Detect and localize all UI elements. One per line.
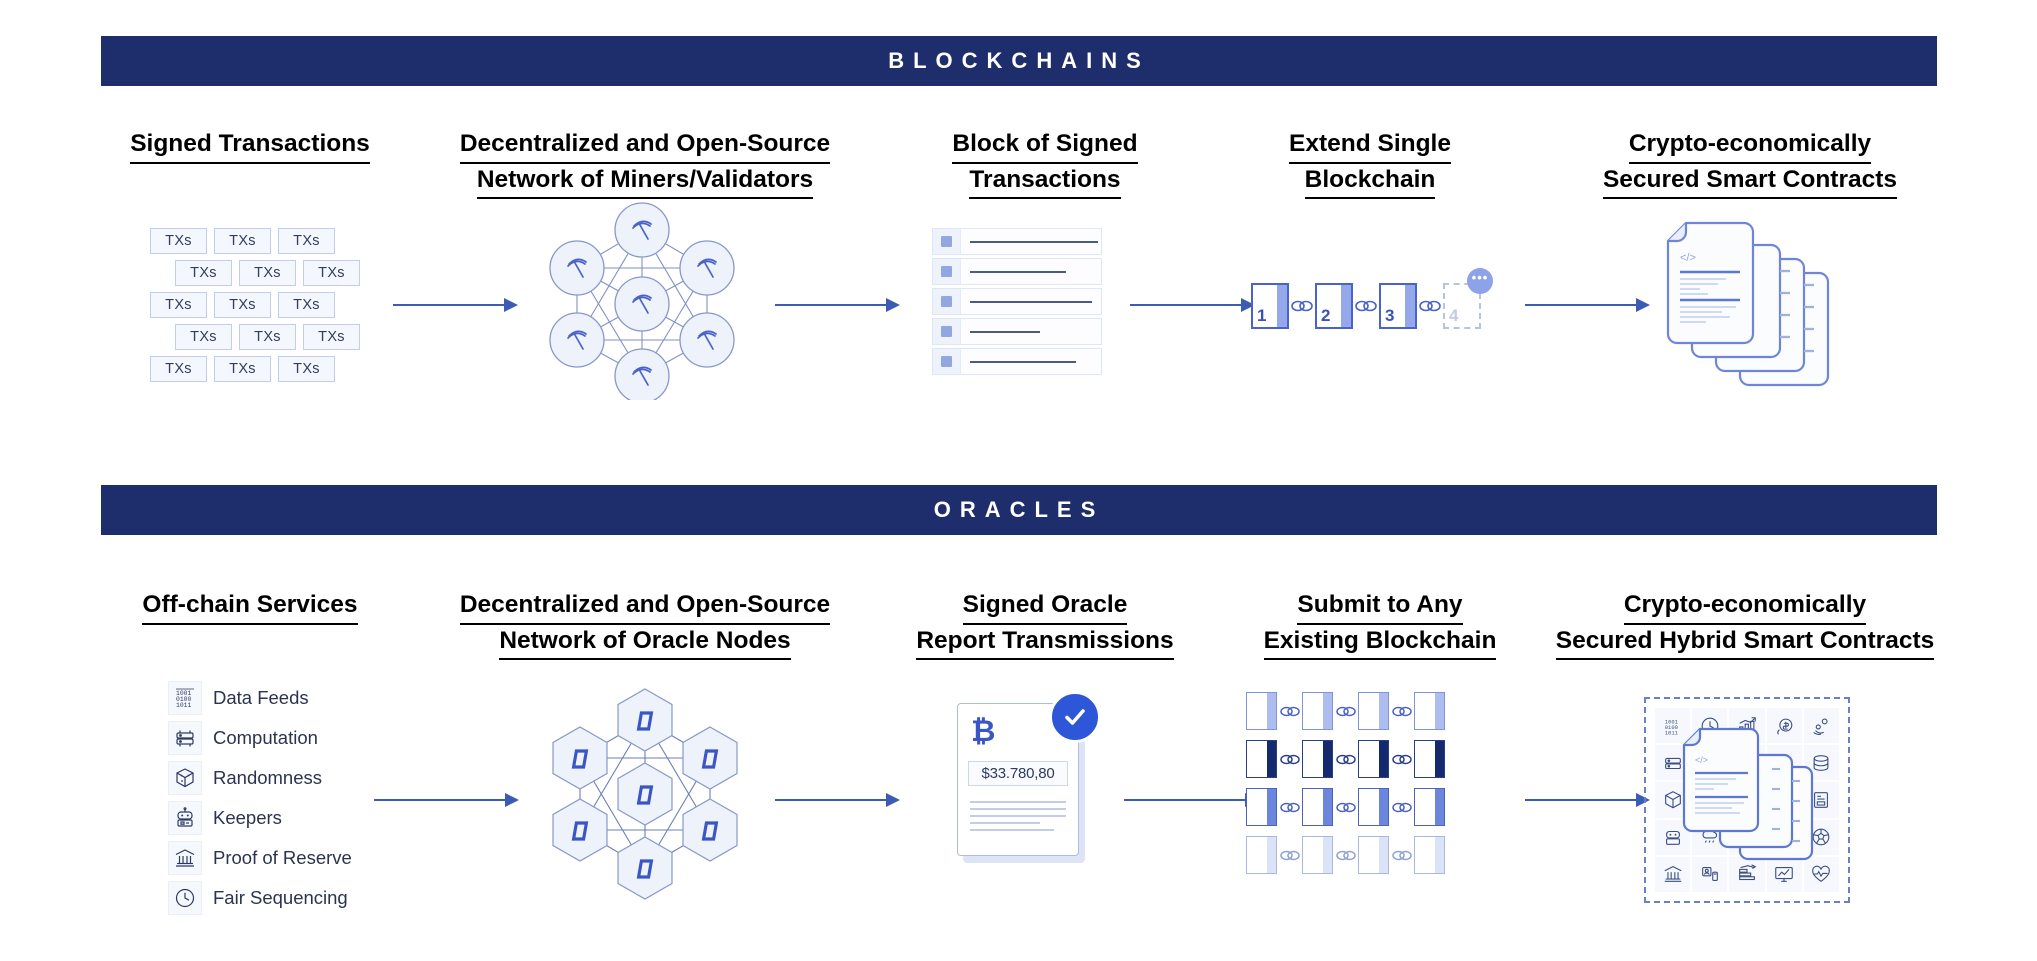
miner-network-svg	[542, 200, 742, 400]
tx-chip: TXs	[278, 228, 335, 254]
list-item: 100101001011 Data Feeds	[168, 681, 352, 715]
miner-node	[615, 203, 669, 257]
chain-rows	[1246, 692, 1445, 874]
tx-line	[970, 271, 1066, 273]
oracle-network-diagram	[540, 680, 750, 905]
oracle-node	[683, 727, 737, 789]
chain-block	[1358, 836, 1389, 874]
flow-arrow	[1124, 793, 1259, 807]
service-items: 100101001011 Data Feeds Computation	[168, 681, 352, 915]
section-banner-blockchains: BLOCKCHAINS	[101, 36, 1937, 86]
list-item: Fair Sequencing	[168, 881, 352, 915]
heading-line: Secured Smart Contracts	[1603, 164, 1897, 200]
chain-block-number: 2	[1317, 306, 1330, 327]
svg-text:1011: 1011	[176, 702, 192, 709]
service-label: Fair Sequencing	[213, 887, 348, 909]
hybrid-smart-contracts-panel: 100101001011	[1644, 697, 1850, 903]
chain-block: 1	[1251, 283, 1289, 329]
chain-link-icon	[1333, 705, 1358, 718]
heading-line: Decentralized and Open-Source	[460, 589, 830, 625]
block-chain: 1 2 3	[1251, 283, 1481, 329]
tx-chip: TXs	[175, 260, 232, 286]
document-stack-svg: </>	[1670, 723, 1822, 869]
heading-line: Secured Hybrid Smart Contracts	[1556, 625, 1935, 661]
square-icon	[933, 259, 961, 284]
tx-grid: TXs TXs TXs TXs TXs TXs TXs TXs TXs TXs …	[150, 228, 360, 382]
tx-row: TXs TXs TXs	[150, 356, 360, 382]
off-chain-services-list: 100101001011 Data Feeds Computation	[168, 681, 352, 915]
tx-line	[970, 301, 1092, 303]
bank-icon	[168, 841, 202, 875]
heading-line: Network of Oracle Nodes	[499, 625, 790, 661]
chain-block: 2	[1315, 283, 1353, 329]
chain-block	[1246, 788, 1277, 826]
server-icon	[168, 721, 202, 755]
chain-block	[1414, 740, 1445, 778]
list-item: Proof of Reserve	[168, 841, 352, 875]
tx-chip: TXs	[214, 356, 271, 382]
miner-node	[680, 241, 734, 295]
tx-chip: TXs	[239, 260, 296, 286]
chain-block	[1302, 692, 1333, 730]
chain-block	[1246, 692, 1277, 730]
heading-submit-to-any-blockchain: Submit to Any Existing Blockchain	[1235, 589, 1525, 660]
signed-block-card	[932, 228, 1102, 375]
chain-link-icon	[1277, 705, 1302, 718]
heading-line: Crypto-economically	[1629, 128, 1871, 164]
flow-arrow	[1130, 298, 1255, 312]
oracle-node	[553, 799, 607, 861]
report-line	[970, 808, 1066, 810]
square-icon	[933, 229, 961, 254]
tx-chip: TXs	[150, 228, 207, 254]
chain-link-icon	[1289, 299, 1315, 313]
document-stack-svg: </>	[1648, 215, 1838, 395]
chain-link-icon	[1333, 849, 1358, 862]
report-line	[970, 829, 1054, 831]
chain-block	[1414, 788, 1445, 826]
check-circle-icon	[1049, 691, 1101, 743]
chain-block	[1246, 740, 1277, 778]
flow-arrow	[775, 298, 900, 312]
oracle-node	[618, 763, 672, 825]
report-document: ₿ $33.780,80	[957, 703, 1085, 863]
tx-row: TXs TXs TXs	[150, 228, 360, 254]
oracle-node	[618, 689, 672, 751]
heading-line: Blockchain	[1305, 164, 1436, 200]
heading-line: Transactions	[969, 164, 1120, 200]
infographic-page: BLOCKCHAINS Signed Transactions Decentra…	[0, 0, 2037, 961]
tx-chip: TXs	[303, 260, 360, 286]
square-icon	[933, 319, 961, 344]
oracle-network-svg	[540, 680, 750, 900]
service-label: Data Feeds	[213, 687, 309, 709]
bitcoin-icon: ₿	[971, 717, 995, 747]
tx-row: TXs TXs TXs	[175, 260, 360, 286]
heading-signed-oracle-report: Signed Oracle Report Transmissions	[865, 589, 1225, 660]
heading-line: Report Transmissions	[916, 625, 1173, 661]
heading-line: Existing Blockchain	[1264, 625, 1497, 661]
chain-link-icon	[1389, 753, 1414, 766]
chain-block-pending: 4 •••	[1443, 283, 1481, 329]
flow-arrow	[775, 793, 900, 807]
code-glyph: </>	[1680, 252, 1696, 264]
oracle-report-card: ₿ $33.780,80	[957, 703, 1085, 863]
oracle-node	[683, 799, 737, 861]
heading-line: Signed Transactions	[130, 128, 370, 164]
heading-oracle-network: Decentralized and Open-Source Network of…	[420, 589, 870, 660]
tx-chip: TXs	[150, 292, 207, 318]
service-label: Keepers	[213, 807, 282, 829]
tx-chip: TXs	[303, 324, 360, 350]
chain-link-icon	[1277, 801, 1302, 814]
heading-line: Extend Single	[1289, 128, 1451, 164]
heading-line: Network of Miners/Validators	[477, 164, 813, 200]
chain-link-icon	[1333, 753, 1358, 766]
square-icon	[933, 349, 961, 374]
chain-link-icon	[1353, 299, 1379, 313]
tx-line	[970, 241, 1098, 243]
miner-node	[680, 313, 734, 367]
multi-chain-grid	[1246, 692, 1445, 874]
report-line	[970, 822, 1040, 824]
chain-block	[1302, 836, 1333, 874]
heading-secured-smart-contracts: Crypto-economically Secured Smart Contra…	[1560, 128, 1940, 199]
list-item: Computation	[168, 721, 352, 755]
chain-row	[1246, 788, 1445, 826]
chain-block-number: 4	[1445, 306, 1458, 327]
report-line	[970, 801, 1066, 803]
heading-line: Signed Oracle	[963, 589, 1128, 625]
tx-chip: TXs	[214, 228, 271, 254]
list-item: Randomness	[168, 761, 352, 795]
chain-block	[1302, 788, 1333, 826]
tx-chip: TXs	[278, 292, 335, 318]
miner-network-diagram	[542, 200, 742, 405]
chain-block	[1358, 692, 1389, 730]
tx-line	[970, 361, 1076, 363]
oracle-node	[553, 727, 607, 789]
chain-block: 3	[1379, 283, 1417, 329]
binary-data-icon: 100101001011	[168, 681, 202, 715]
section-banner-label: BLOCKCHAINS	[888, 50, 1150, 72]
signed-transactions-grid: TXs TXs TXs TXs TXs TXs TXs TXs TXs TXs …	[150, 228, 360, 382]
chain-link-icon	[1417, 299, 1443, 313]
signed-block-rows	[932, 228, 1102, 375]
heading-secured-hybrid-smart-contracts: Crypto-economically Secured Hybrid Smart…	[1535, 589, 1955, 660]
miner-node	[615, 277, 669, 331]
chain-link-icon	[1333, 801, 1358, 814]
chain-block-number: 1	[1253, 306, 1266, 327]
chain-link-icon	[1389, 801, 1414, 814]
heading-block-of-signed-transactions: Block of Signed Transactions	[875, 128, 1215, 199]
tx-chip: TXs	[239, 324, 296, 350]
heading-line: Crypto-economically	[1624, 589, 1866, 625]
code-glyph: </>	[1695, 755, 1708, 765]
chain-block	[1358, 788, 1389, 826]
miner-node	[615, 349, 669, 400]
price-value: $33.780,80	[968, 761, 1068, 786]
clock-icon	[168, 881, 202, 915]
tx-chip: TXs	[214, 292, 271, 318]
tx-line	[970, 331, 1040, 333]
heading-line: Off-chain Services	[142, 589, 357, 625]
signed-block-row	[932, 258, 1102, 285]
chain-block	[1358, 740, 1389, 778]
flow-arrow	[393, 298, 518, 312]
chain-row	[1246, 692, 1445, 730]
chain-block	[1246, 836, 1277, 874]
blockchain-extend-diagram: 1 2 3	[1251, 283, 1481, 329]
heading-extend-single-blockchain: Extend Single Blockchain	[1225, 128, 1515, 199]
signed-block-row	[932, 288, 1102, 315]
chain-row	[1246, 836, 1445, 874]
service-label: Randomness	[213, 767, 322, 789]
chain-link-icon	[1389, 849, 1414, 862]
chain-link-icon	[1277, 849, 1302, 862]
robot-icon	[168, 801, 202, 835]
signed-block-row	[932, 348, 1102, 375]
section-banner-oracles: ORACLES	[101, 485, 1937, 535]
tx-chip: TXs	[150, 356, 207, 382]
heading-off-chain-services: Off-chain Services	[50, 589, 450, 625]
chain-link-icon	[1277, 753, 1302, 766]
heading-line: Submit to Any	[1297, 589, 1462, 625]
signed-block-row	[932, 228, 1102, 255]
heading-signed-transactions: Signed Transactions	[50, 128, 450, 164]
smart-contracts-stack: </>	[1648, 215, 1838, 400]
section-banner-label: ORACLES	[934, 499, 1105, 521]
chain-block-number: 3	[1381, 306, 1394, 327]
hybrid-document-stack: </>	[1670, 723, 1822, 874]
flow-arrow	[1525, 298, 1650, 312]
tx-row: TXs TXs TXs	[175, 324, 360, 350]
oracle-node	[618, 837, 672, 899]
dice-icon	[168, 761, 202, 795]
chain-block	[1414, 692, 1445, 730]
tx-chip: TXs	[278, 356, 335, 382]
list-item: Keepers	[168, 801, 352, 835]
flow-arrow	[1525, 793, 1650, 807]
heading-line: Decentralized and Open-Source	[460, 128, 830, 164]
chain-block	[1414, 836, 1445, 874]
service-label: Computation	[213, 727, 318, 749]
tx-row: TXs TXs TXs	[150, 292, 360, 318]
heading-miner-network: Decentralized and Open-Source Network of…	[420, 128, 870, 199]
signed-block-row	[932, 318, 1102, 345]
service-label: Proof of Reserve	[213, 847, 352, 869]
chain-block	[1302, 740, 1333, 778]
hybrid-dashed-frame: 100101001011	[1644, 697, 1850, 903]
miner-node	[550, 241, 604, 295]
chain-row	[1246, 740, 1445, 778]
flow-arrow	[374, 793, 519, 807]
square-icon	[933, 289, 961, 314]
tx-chip: TXs	[175, 324, 232, 350]
pending-dots-badge: •••	[1467, 268, 1493, 294]
heading-line: Block of Signed	[952, 128, 1137, 164]
chain-link-icon	[1389, 705, 1414, 718]
report-line	[970, 815, 1066, 817]
miner-node	[550, 313, 604, 367]
